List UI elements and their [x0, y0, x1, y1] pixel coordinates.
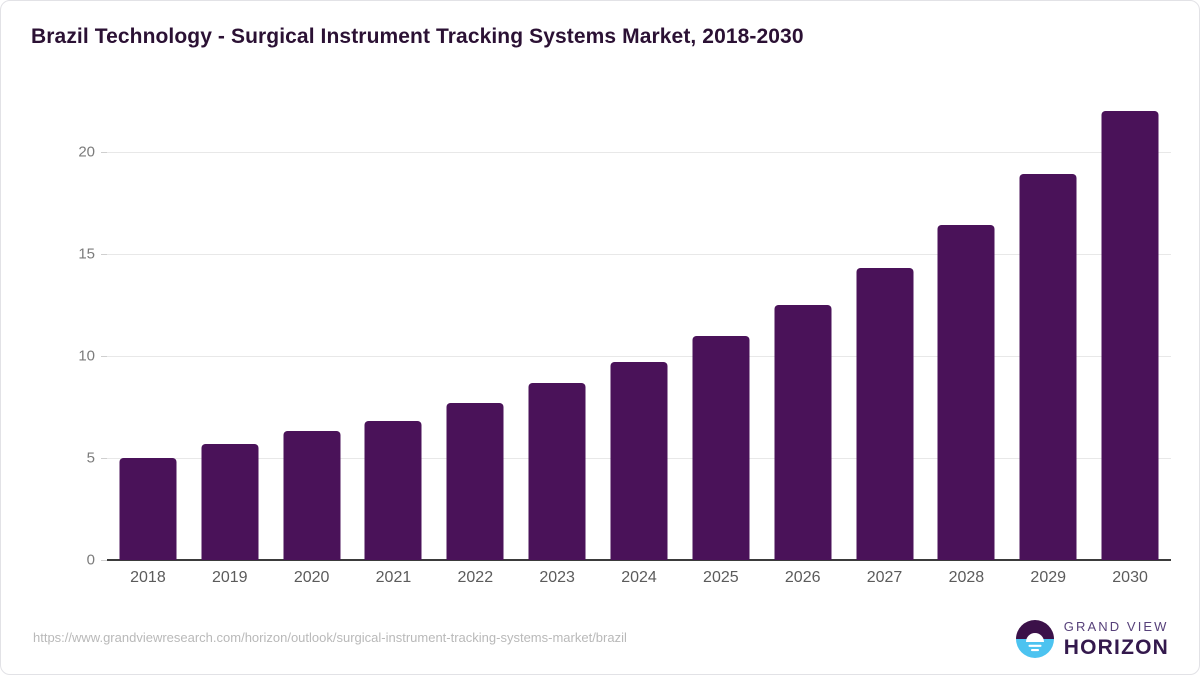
x-axis-tick-label: 2022: [458, 569, 494, 587]
bar-slot: [434, 101, 516, 560]
source-url[interactable]: https://www.grandviewresearch.com/horizo…: [33, 630, 627, 645]
bar-slot: [353, 101, 435, 560]
bar-slot: [598, 101, 680, 560]
x-axis-tick-label: 2025: [703, 569, 739, 587]
bar-slot: [762, 101, 844, 560]
y-axis-tick-label: 20: [15, 144, 95, 161]
y-axis-tick-label: 15: [15, 246, 95, 263]
x-axis-tick-label: 2030: [1112, 569, 1148, 587]
logo-wordmark: GRAND VIEW HORIZON: [1064, 620, 1169, 658]
x-axis-tick-label: 2018: [130, 569, 166, 587]
bar-slot: [1007, 101, 1089, 560]
x-axis-tick-label: 2026: [785, 569, 821, 587]
x-axis-tick-label: 2029: [1030, 569, 1066, 587]
x-axis-tick-label: 2027: [867, 569, 903, 587]
x-axis-tick-label: 2019: [212, 569, 248, 587]
chart-canvas: 05101520 Market Size (US$M) 201820192020…: [1, 1, 1200, 675]
bar-2018[interactable]: [119, 458, 176, 560]
bar-2026[interactable]: [774, 305, 831, 560]
x-axis-tick-label: 2028: [949, 569, 985, 587]
bar-slot: [107, 101, 189, 560]
bar-2025[interactable]: [692, 336, 749, 560]
chart-page: Brazil Technology - Surgical Instrument …: [0, 0, 1200, 675]
x-axis-tick-label: 2024: [621, 569, 657, 587]
bar-2028[interactable]: [938, 225, 995, 560]
logo-line-1: GRAND VIEW: [1064, 620, 1169, 633]
y-axis-tick-label: 10: [15, 348, 95, 365]
brand-logo: GRAND VIEW HORIZON: [1015, 619, 1169, 659]
x-axis-tick-label: 2023: [539, 569, 575, 587]
y-axis-tick-label: 5: [15, 450, 95, 467]
bar-2024[interactable]: [610, 362, 667, 560]
bar-slot: [844, 101, 926, 560]
bar-2030[interactable]: [1102, 111, 1159, 560]
bar-slot: [271, 101, 353, 560]
bar-slot: [516, 101, 598, 560]
bar-2023[interactable]: [529, 383, 586, 560]
bar-2021[interactable]: [365, 421, 422, 560]
logo-line-2: HORIZON: [1064, 637, 1169, 658]
y-axis-tick-label: 0: [15, 552, 95, 569]
bar-slot: [680, 101, 762, 560]
bar-2027[interactable]: [856, 268, 913, 560]
bar-slot: [189, 101, 271, 560]
bars-layer: [107, 101, 1171, 560]
bar-2019[interactable]: [201, 444, 258, 560]
bar-slot: [925, 101, 1007, 560]
horizon-logo-icon: [1015, 619, 1055, 659]
bar-slot: [1089, 101, 1171, 560]
bar-2022[interactable]: [447, 403, 504, 560]
x-axis-tick-label: 2021: [376, 569, 412, 587]
bar-2029[interactable]: [1020, 174, 1077, 560]
bar-2020[interactable]: [283, 431, 340, 560]
x-axis-tick-label: 2020: [294, 569, 330, 587]
